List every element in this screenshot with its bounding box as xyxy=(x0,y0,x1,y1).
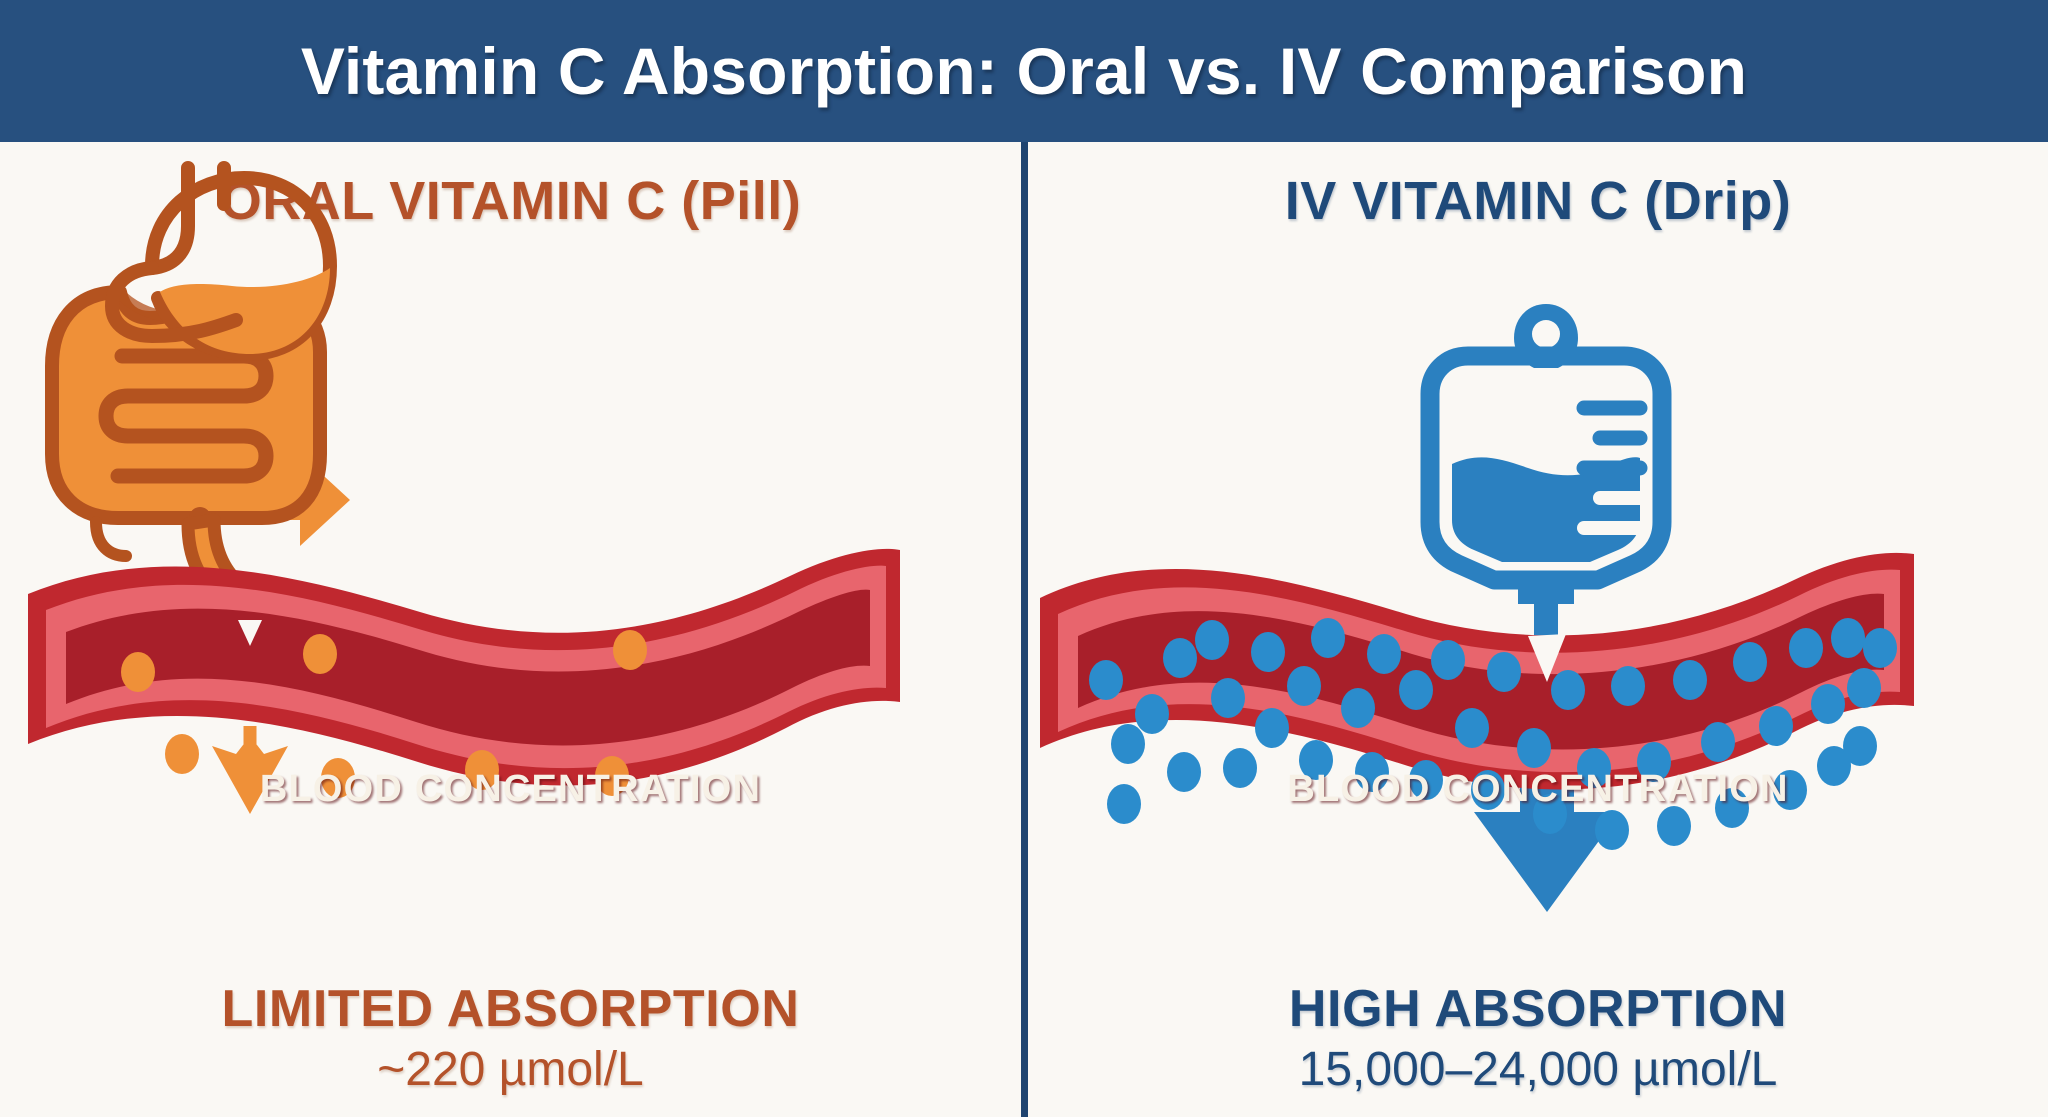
result-oral: LIMITED ABSORPTION ~220 µmol/L xyxy=(0,982,1021,1097)
result-oral-value: ~220 µmol/L xyxy=(0,1043,1021,1097)
result-iv: HIGH ABSORPTION 15,000–24,000 µmol/L xyxy=(1028,982,2048,1097)
panel-divider xyxy=(1021,142,1028,1117)
result-iv-headline: HIGH ABSORPTION xyxy=(1028,982,2048,1037)
vessel-label-oral: BLOOD CONCENTRATION xyxy=(0,768,1021,811)
panel-iv-graphics xyxy=(1028,142,2048,1117)
vessel-label-iv: BLOOD CONCENTRATION xyxy=(1028,768,2048,811)
digestive-system-icon xyxy=(52,168,330,634)
panel-oral: ORAL VITAMIN C (Pill) xyxy=(0,142,1021,1117)
infographic-page: Vitamin C Absorption: Oral vs. IV Compar… xyxy=(0,0,2048,1117)
panel-oral-graphics xyxy=(0,142,1021,1117)
panel-iv: IV VITAMIN C (Drip) xyxy=(1028,142,2048,1117)
header-banner: Vitamin C Absorption: Oral vs. IV Compar… xyxy=(0,0,2048,142)
result-iv-value: 15,000–24,000 µmol/L xyxy=(1028,1043,2048,1097)
page-title: Vitamin C Absorption: Oral vs. IV Compar… xyxy=(0,0,2048,142)
blood-vessel-oral xyxy=(28,549,900,798)
result-oral-headline: LIMITED ABSORPTION xyxy=(0,982,1021,1037)
